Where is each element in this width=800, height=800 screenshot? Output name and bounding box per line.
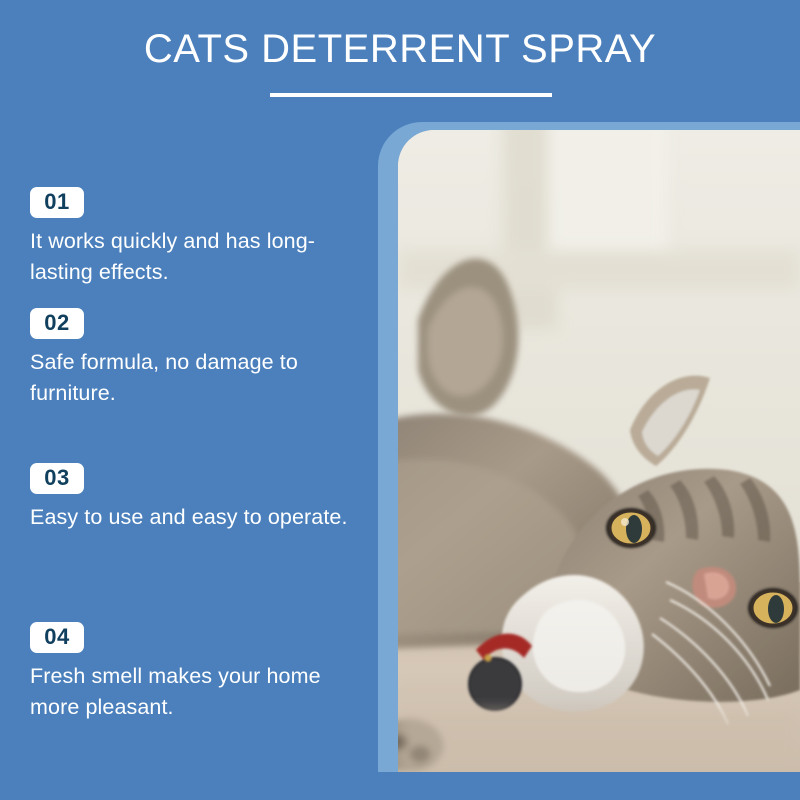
list-item: 02 Safe formula, no damage to furniture. xyxy=(30,308,360,409)
cat-photo xyxy=(398,130,800,772)
feature-number-badge: 03 xyxy=(30,463,84,494)
feature-number-badge: 02 xyxy=(30,308,84,339)
list-item: 04 Fresh smell makes your home more plea… xyxy=(30,622,360,723)
feature-description: Safe formula, no damage to furniture. xyxy=(30,347,350,409)
title-block: CATS DETERRENT SPRAY xyxy=(0,26,800,72)
product-feature-poster: CATS DETERRENT SPRAY 01 It works quickly… xyxy=(0,0,800,800)
list-item: 03 Easy to use and easy to operate. xyxy=(30,463,360,533)
feature-number: 02 xyxy=(44,310,69,335)
feature-number-badge: 04 xyxy=(30,622,84,653)
feature-number: 01 xyxy=(44,189,69,214)
title-divider xyxy=(270,93,552,97)
feature-description: It works quickly and has long-lasting ef… xyxy=(30,226,350,288)
feature-number: 03 xyxy=(44,465,69,490)
feature-description: Fresh smell makes your home more pleasan… xyxy=(30,661,350,723)
cat-illustration xyxy=(398,130,800,772)
page-title: CATS DETERRENT SPRAY xyxy=(0,26,800,72)
list-item: 01 It works quickly and has long-lasting… xyxy=(30,187,360,288)
feature-number-badge: 01 xyxy=(30,187,84,218)
feature-number: 04 xyxy=(44,624,69,649)
feature-description: Easy to use and easy to operate. xyxy=(30,502,350,533)
